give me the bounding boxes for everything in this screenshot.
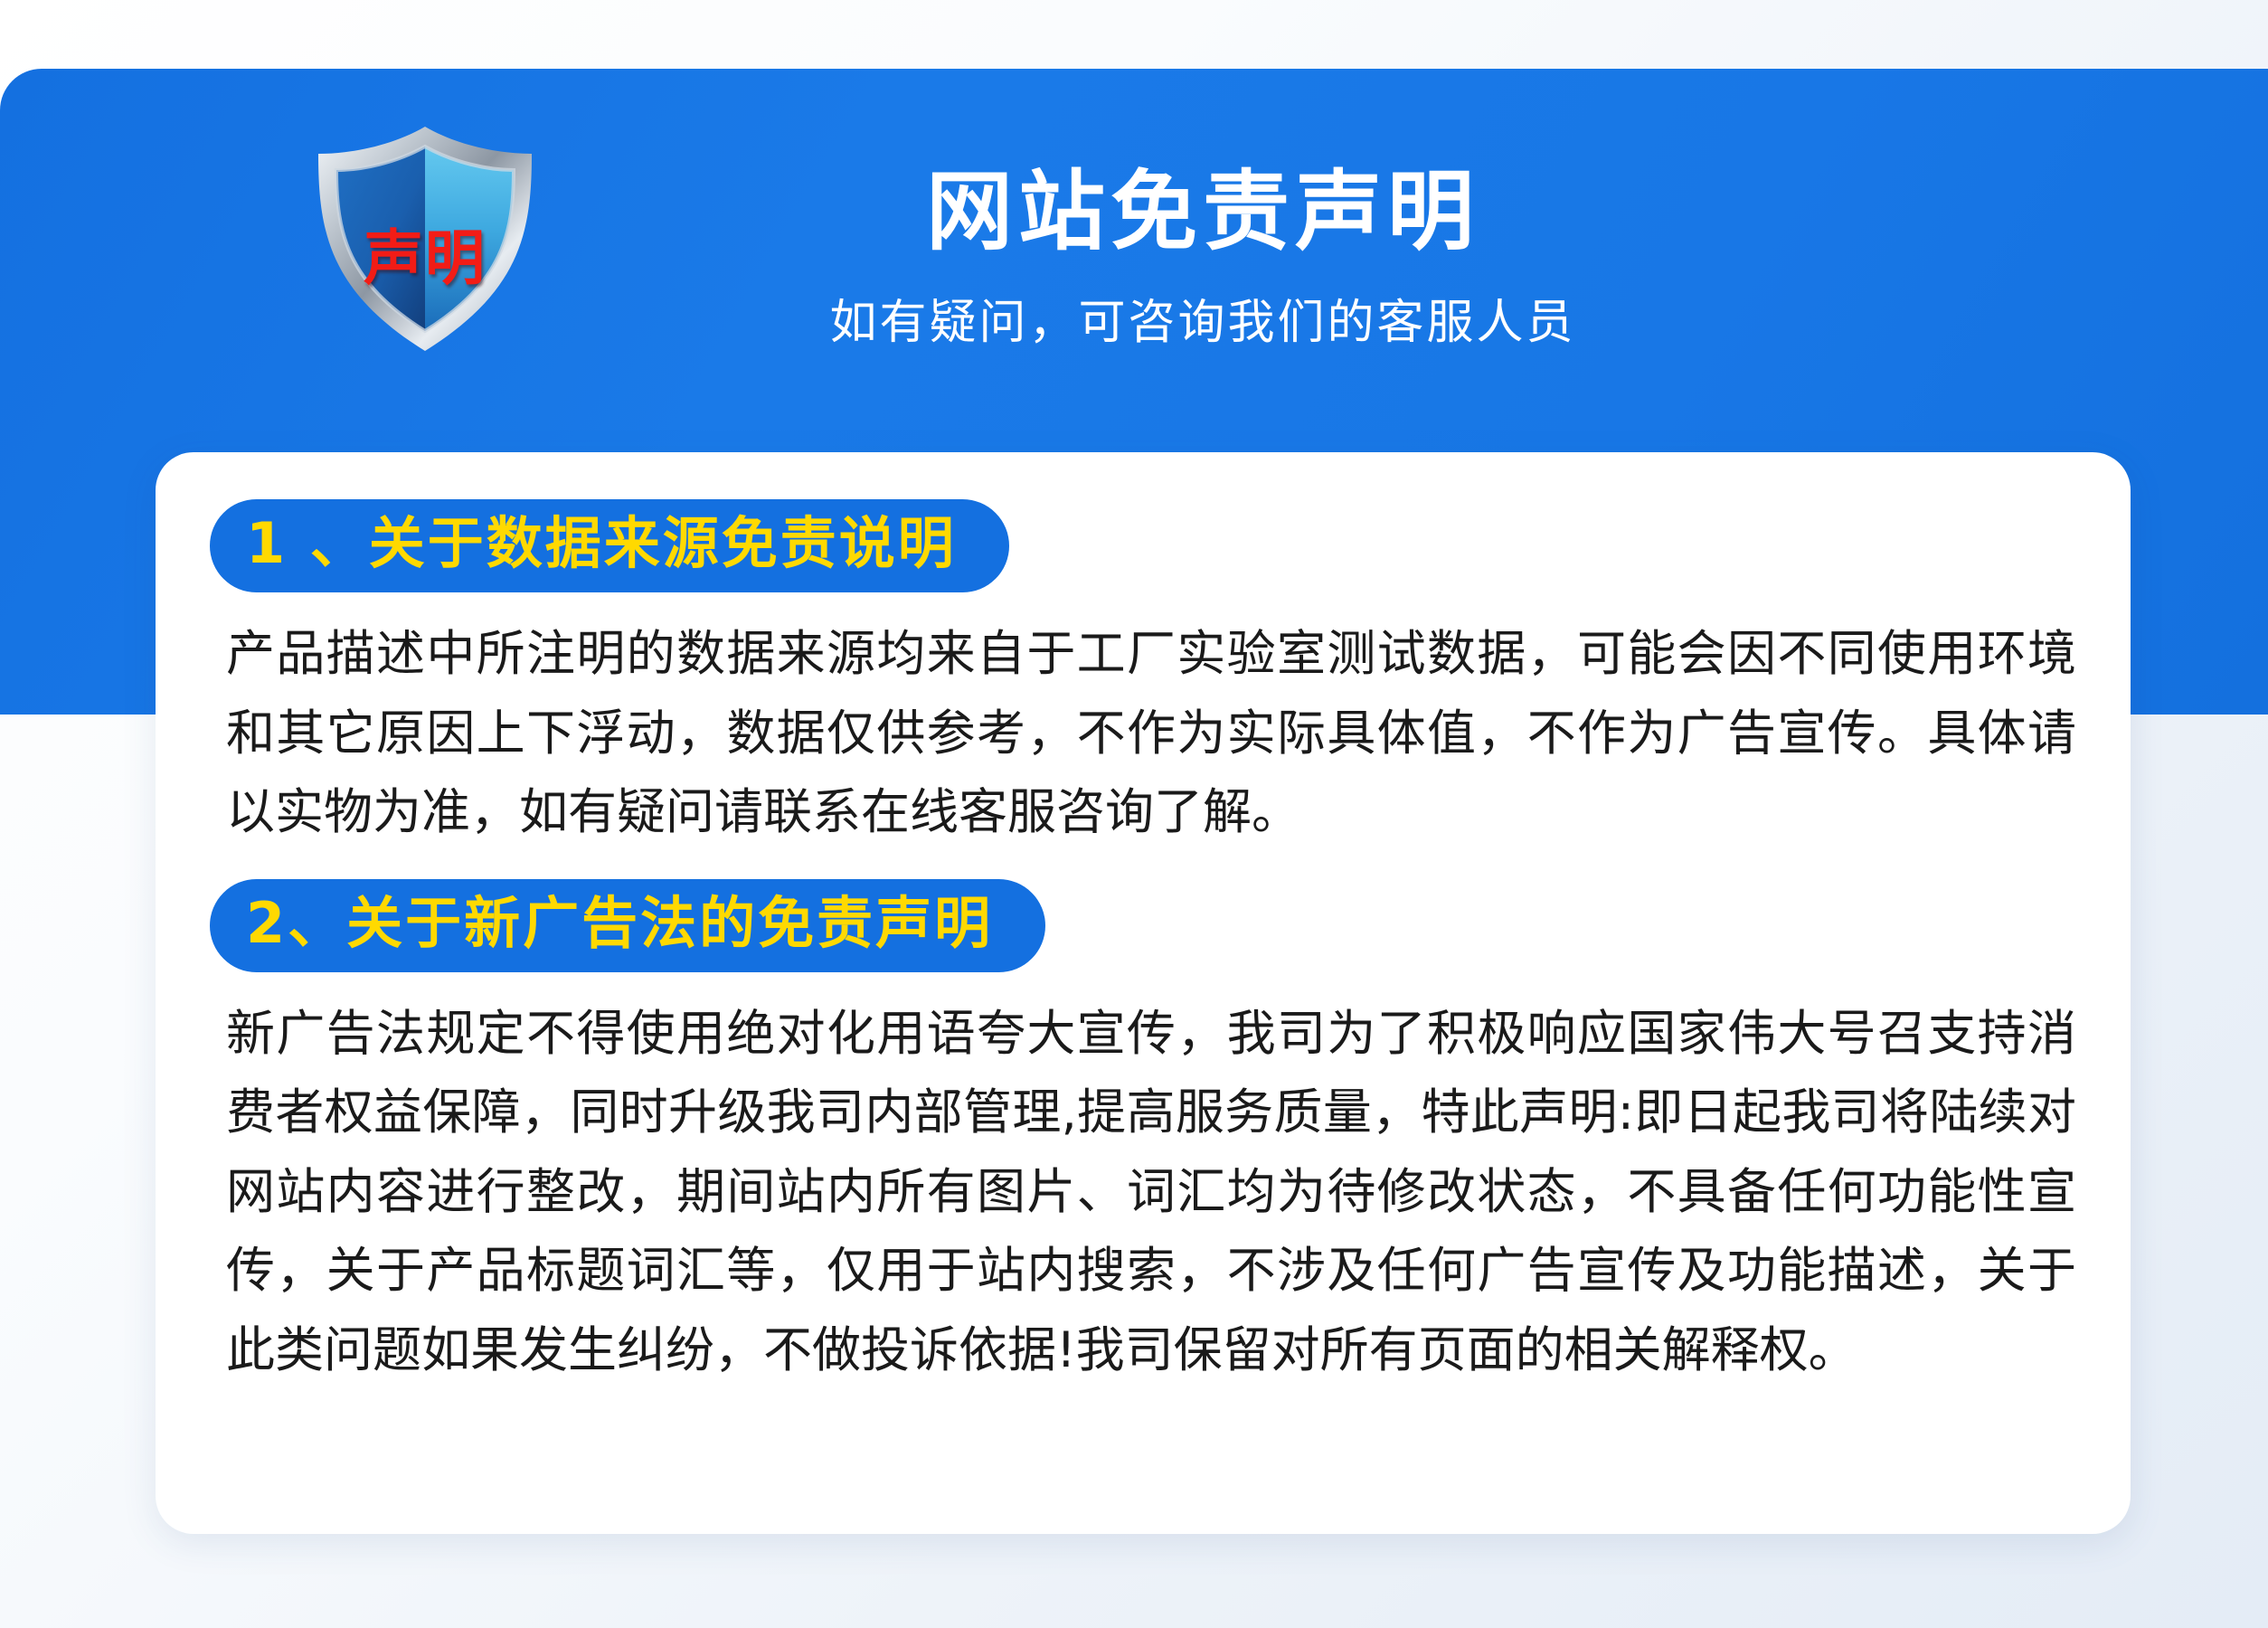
page-subtitle: 如有疑问，可咨询我们的客服人员 bbox=[624, 284, 1781, 352]
page-title: 网站免责声明 bbox=[624, 165, 1781, 260]
section-body-2: 新广告法规定不得使用绝对化用语夸大宣传，我司为了积极响应国家伟大号召支持消费者权… bbox=[210, 994, 2076, 1389]
section-badge-2: 2、关于新广告法的免责声明 bbox=[210, 879, 1045, 972]
section-badge-1: 1 、关于数据来源免责说明 bbox=[210, 499, 1009, 592]
header-title-block: 网站免责声明 如有疑问，可咨询我们的客服人员 bbox=[624, 165, 1781, 352]
section-body-1: 产品描述中所注明的数据来源均来自于工厂实验室测试数据，可能会因不同使用环境和其它… bbox=[210, 614, 2076, 851]
section-1-badge-row: 1 、关于数据来源免责说明 bbox=[210, 499, 2076, 592]
shield-icon-label: 声明 bbox=[302, 210, 548, 297]
section-2-badge-row: 2、关于新广告法的免责声明 bbox=[210, 879, 2076, 972]
content-card: 1 、关于数据来源免责说明 产品描述中所注明的数据来源均来自于工厂实验室测试数据… bbox=[156, 452, 2131, 1534]
shield-emblem: 声明 bbox=[302, 123, 548, 356]
